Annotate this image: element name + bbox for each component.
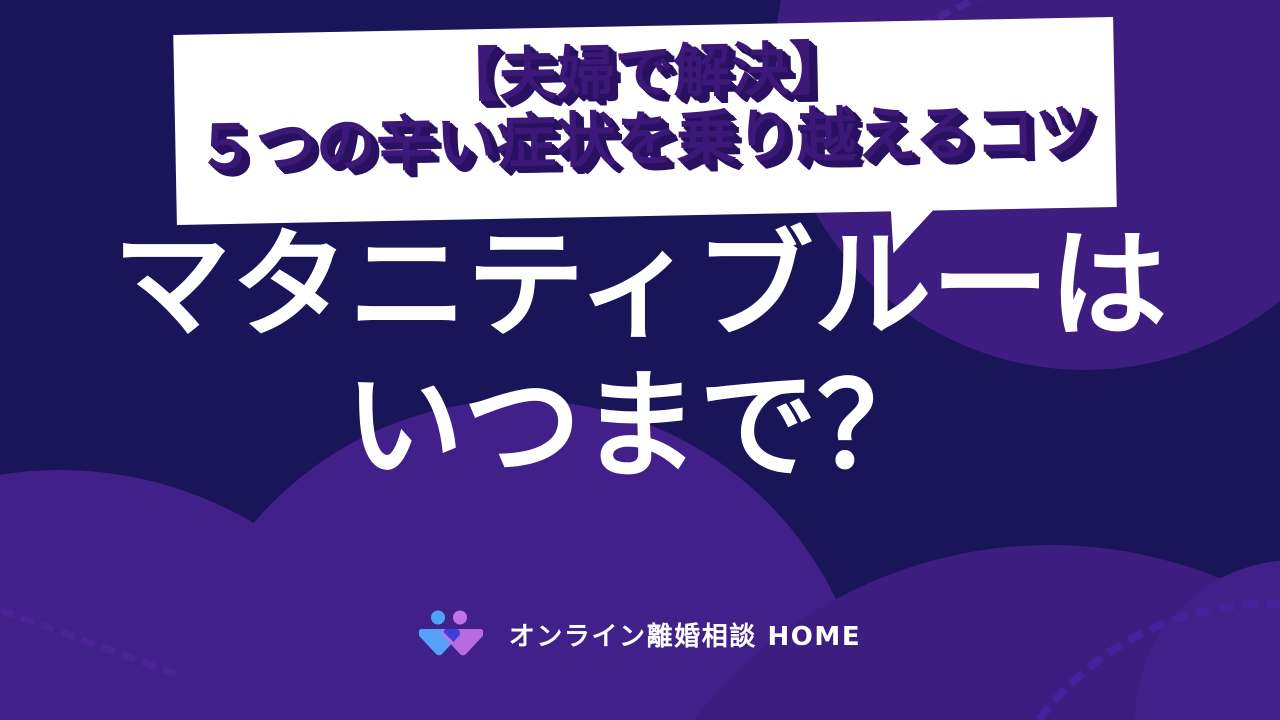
brand-footer: オンライン離婚相談 HOME [0,610,1280,658]
two-people-logo-icon [419,610,483,658]
headline-line-2: いつまで？ [0,363,1280,490]
speech-bubble: 【夫婦で解決】 ５つの辛い症状を乗り越えるコツ [173,17,1116,225]
brand-name: オンライン離婚相談 HOME [509,616,861,653]
page-title: マタニティブルーは いつまで？ [0,222,1280,491]
poster-canvas: 【夫婦で解決】 ５つの辛い症状を乗り越えるコツ マタニティブルーは いつまで？ … [0,0,1280,720]
headline-line-1: マタニティブルーは [0,222,1280,349]
logo-head-left-icon [431,611,445,625]
speech-bubble-text-block: 【夫婦で解決】 ５つの辛い症状を乗り越えるコツ [174,31,1116,183]
logo-head-right-icon [453,611,467,625]
